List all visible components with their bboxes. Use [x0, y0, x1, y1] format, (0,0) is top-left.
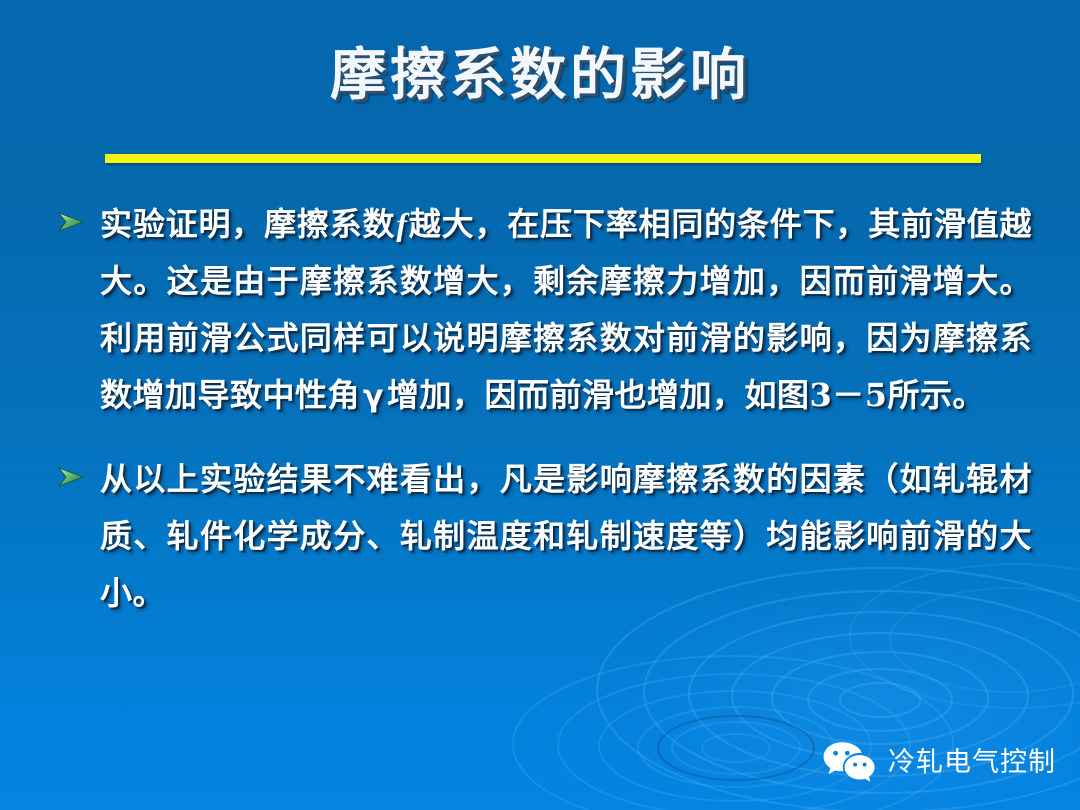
neutral-angle-symbol: γ	[360, 379, 387, 414]
slide-canvas: 摩擦系数的影响 实验证明，摩擦系数f越大，在压下率相同的条件下，其前滑值越大。这…	[0, 0, 1080, 810]
bullet1-text-part1: 实验证明，摩擦系数	[100, 205, 395, 243]
arrow-bullet-icon	[58, 467, 84, 487]
bullet1-text-part3: 增加，因而前滑也增加，如图3－5所示。	[387, 376, 985, 414]
list-item: 实验证明，摩擦系数f越大，在压下率相同的条件下，其前滑值越大。这是由于摩擦系数增…	[52, 196, 1032, 425]
title-divider	[105, 154, 981, 163]
friction-coefficient-variable: f	[395, 206, 408, 242]
list-item-text: 实验证明，摩擦系数f越大，在压下率相同的条件下，其前滑值越大。这是由于摩擦系数增…	[100, 196, 1032, 425]
list-item: 从以上实验结果不难看出，凡是影响摩擦系数的因素（如轧辊材质、轧件化学成分、轧制温…	[52, 451, 1032, 622]
slide-title-container: 摩擦系数的影响	[0, 44, 1080, 107]
page-title: 摩擦系数的影响	[330, 44, 750, 107]
wechat-logo-icon	[822, 740, 876, 784]
arrow-bullet-icon	[58, 212, 84, 232]
list-item-text: 从以上实验结果不难看出，凡是影响摩擦系数的因素（如轧辊材质、轧件化学成分、轧制温…	[100, 451, 1032, 622]
slide-body: 实验证明，摩擦系数f越大，在压下率相同的条件下，其前滑值越大。这是由于摩擦系数增…	[52, 196, 1032, 648]
watermark-label: 冷轧电气控制	[888, 749, 1056, 776]
wechat-watermark: 冷轧电气控制	[822, 740, 1056, 784]
